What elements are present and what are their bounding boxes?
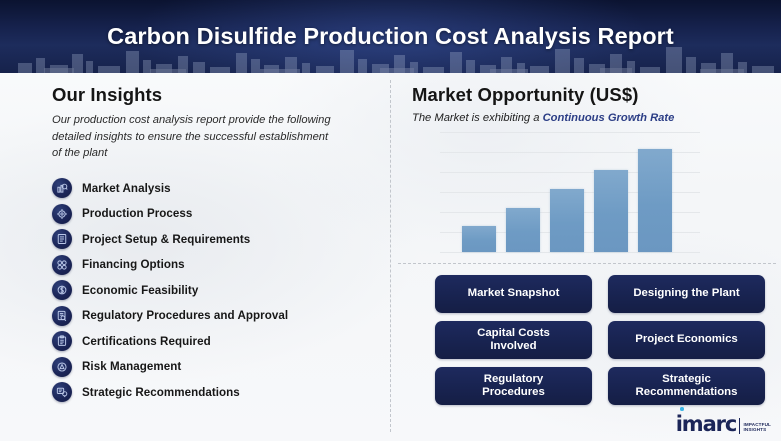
gridline [440, 252, 700, 253]
chart-bars [440, 132, 700, 252]
economic-feasibility-icon [52, 280, 72, 300]
market-heading: Market Opportunity (US$) [412, 84, 772, 106]
list-item-regulatory-procedures[interactable]: Regulatory Procedures and Approval [52, 303, 382, 329]
header-banner: Carbon Disulfide Production Cost Analysi… [0, 0, 781, 73]
insight-label: Regulatory Procedures and Approval [82, 309, 288, 322]
market-opportunity-panel: Market Opportunity (US$) The Market is e… [412, 84, 772, 124]
chart-bar [594, 170, 628, 252]
insight-label: Project Setup & Requirements [82, 233, 250, 246]
risk-management-icon [52, 357, 72, 377]
chart-bar [506, 208, 540, 252]
regulatory-procedures-icon [52, 306, 72, 326]
market-opportunity-bar-chart [440, 132, 700, 252]
market-subtitle: The Market is exhibiting a Continuous Gr… [412, 112, 772, 124]
list-item-project-setup[interactable]: Project Setup & Requirements [52, 227, 382, 253]
insight-label: Production Process [82, 207, 192, 220]
insights-subtitle: Our production cost analysis report prov… [52, 112, 334, 162]
certifications-icon [52, 331, 72, 351]
financing-options-icon [52, 255, 72, 275]
button-strategic-recommendations[interactable]: Strategic Recommendations [608, 367, 765, 405]
insight-label: Risk Management [82, 360, 181, 373]
chart-bar [462, 226, 496, 252]
button-regulatory-procedures[interactable]: Regulatory Procedures [435, 367, 592, 405]
insight-label: Economic Feasibility [82, 284, 198, 297]
chart-bar [550, 189, 584, 252]
insight-label: Market Analysis [82, 182, 171, 195]
market-subtitle-plain: The Market is exhibiting a [412, 112, 543, 124]
slide-root: Carbon Disulfide Production Cost Analysi… [0, 0, 781, 441]
list-item-economic-feasibility[interactable]: Economic Feasibility [52, 278, 382, 304]
logo-divider [739, 418, 740, 434]
logo-dot-icon [680, 407, 684, 411]
button-project-economics[interactable]: Project Economics [608, 321, 765, 359]
list-item-strategic-recommendations[interactable]: Strategic Recommendations [52, 380, 382, 406]
project-setup-icon [52, 229, 72, 249]
insights-panel: Our Insights Our production cost analysi… [52, 84, 382, 405]
button-designing-the-plant[interactable]: Designing the Plant [608, 275, 765, 313]
insight-label: Certifications Required [82, 335, 211, 348]
strategic-recommendations-icon [52, 382, 72, 402]
chart-bar [638, 149, 672, 252]
imarc-logo: imarc IMPACTFUL INSIGHTS [676, 405, 771, 435]
list-item-certifications-required[interactable]: Certifications Required [52, 329, 382, 355]
market-subtitle-accent: Continuous Growth Rate [543, 112, 675, 124]
page-title: Carbon Disulfide Production Cost Analysi… [0, 0, 781, 73]
insights-list: Market Analysis Production Process [52, 176, 382, 406]
logo-tagline: IMPACTFUL INSIGHTS [743, 422, 771, 433]
list-item-production-process[interactable]: Production Process [52, 201, 382, 227]
button-market-snapshot[interactable]: Market Snapshot [435, 275, 592, 313]
production-process-icon [52, 204, 72, 224]
button-capital-costs-involved[interactable]: Capital Costs Involved [435, 321, 592, 359]
insight-label: Financing Options [82, 258, 185, 271]
horizontal-divider [398, 263, 776, 264]
section-button-grid: Market Snapshot Designing the Plant Capi… [435, 275, 765, 405]
insight-label: Strategic Recommendations [82, 386, 240, 399]
list-item-financing-options[interactable]: Financing Options [52, 252, 382, 278]
list-item-risk-management[interactable]: Risk Management [52, 354, 382, 380]
insights-heading: Our Insights [52, 84, 382, 106]
logo-wordmark: imarc [676, 414, 737, 435]
logo-mark: imarc [676, 414, 737, 435]
market-analysis-icon [52, 178, 72, 198]
list-item-market-analysis[interactable]: Market Analysis [52, 176, 382, 202]
vertical-divider [390, 80, 391, 432]
